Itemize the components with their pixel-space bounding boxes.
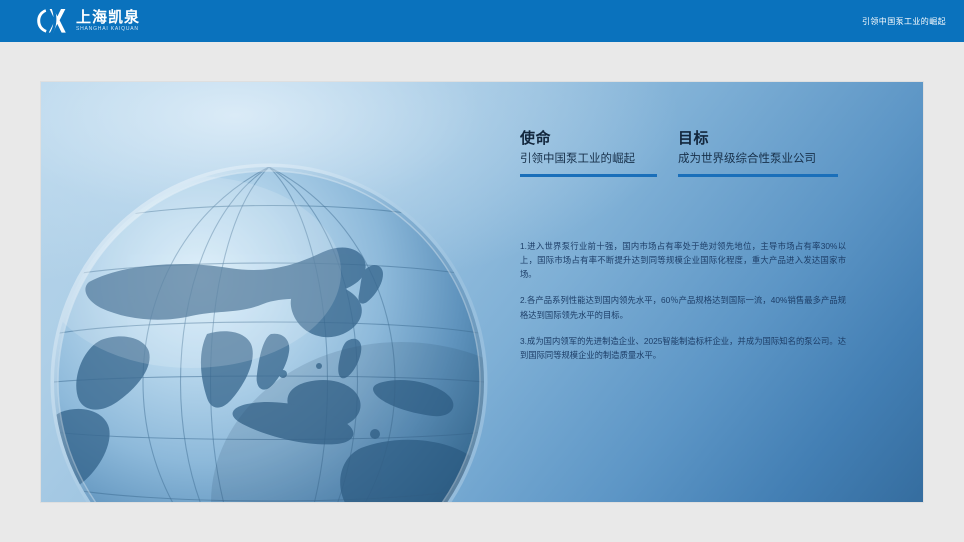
brand-name-en: SHANGHAI KAIQUAN	[76, 27, 140, 32]
page-surface: 使命 引领中国泵工业的崛起 目标 成为世界级综合性泵业公司 1.进入世界泵行业前…	[0, 42, 964, 542]
slide-canvas: 使命 引领中国泵工业的崛起 目标 成为世界级综合性泵业公司 1.进入世界泵行业前…	[41, 82, 923, 502]
body-paragraph: 2.各产品系列性能达到国内领先水平，60％产品规格达到国际一流，40%销售最多产…	[520, 293, 846, 322]
brand-name-cn: 上海凯泉	[76, 10, 140, 25]
goal-block: 目标 成为世界级综合性泵业公司	[678, 130, 838, 177]
brand-logo[interactable]: 上海凯泉 SHANGHAI KAIQUAN	[36, 6, 140, 36]
body-paragraph-list: 1.进入世界泵行业前十强，国内市场占有率处于绝对领先地位，主导市场占有率30%以…	[520, 239, 860, 363]
goal-title: 目标	[678, 130, 838, 148]
mission-block: 使命 引领中国泵工业的崛起	[520, 130, 657, 177]
goal-underline	[678, 174, 838, 177]
goal-subtitle: 成为世界级综合性泵业公司	[678, 152, 838, 168]
header-tagline: 引领中国泵工业的崛起	[862, 0, 946, 42]
mission-subtitle: 引领中国泵工业的崛起	[520, 152, 657, 168]
mission-underline	[520, 174, 657, 177]
app-header-bar: 上海凯泉 SHANGHAI KAIQUAN 引领中国泵工业的崛起	[0, 0, 964, 42]
heading-row: 使命 引领中国泵工业的崛起 目标 成为世界级综合性泵业公司	[520, 130, 860, 177]
globe-illustration	[41, 82, 551, 502]
mission-title: 使命	[520, 130, 657, 148]
kaiquan-logo-icon	[36, 7, 70, 35]
slide-text-panel: 使命 引领中国泵工业的崛起 目标 成为世界级综合性泵业公司 1.进入世界泵行业前…	[520, 130, 860, 362]
body-paragraph: 3.成为国内领军的先进制造企业、2025智能制造标杆企业，并成为国际知名的泵公司…	[520, 334, 846, 363]
brand-wordmark: 上海凯泉 SHANGHAI KAIQUAN	[76, 10, 140, 32]
body-paragraph: 1.进入世界泵行业前十强，国内市场占有率处于绝对领先地位，主导市场占有率30%以…	[520, 239, 846, 282]
